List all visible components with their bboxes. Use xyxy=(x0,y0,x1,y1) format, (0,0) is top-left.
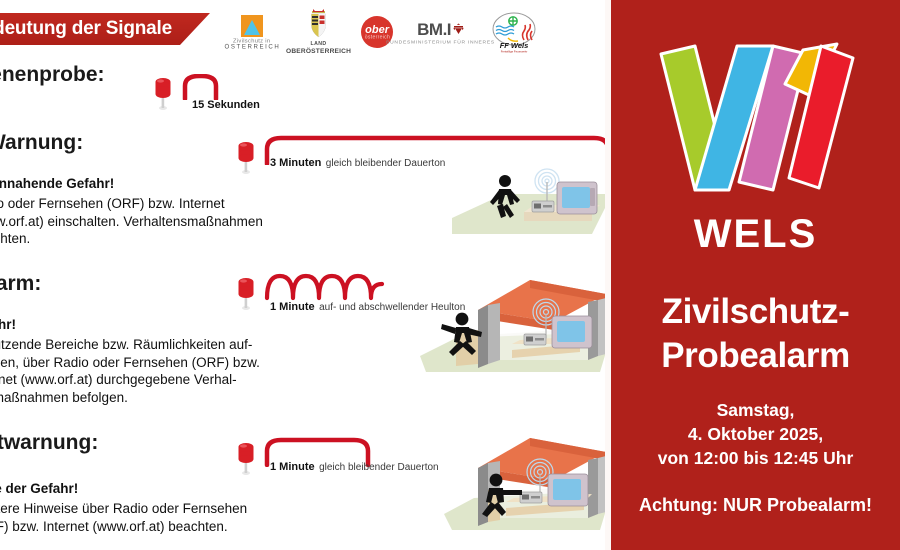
event-date-line3: von 12:00 bis 12:45 Uhr xyxy=(611,446,900,470)
alarm-heading: fahr! xyxy=(0,317,16,332)
event-panel: WELS Zivilschutz- Probealarm Samstag, 4.… xyxy=(611,0,900,550)
signal-duration-2: 3 Minuten xyxy=(270,157,321,169)
zivilschutz-triangle-icon xyxy=(244,20,260,35)
entwarnung-body-line-1: eitere Hinweise über Radio oder Fernsehe… xyxy=(0,500,247,518)
alarm-body: hützende Bereiche bzw. Räumlichkeiten au… xyxy=(0,336,260,406)
warning-body: dio oder Fernsehen (ORF) bzw. Internet w… xyxy=(0,195,263,248)
event-notice: Achtung: NUR Probealarm! xyxy=(611,495,900,516)
city-name: WELS xyxy=(611,212,900,257)
wels-w-logo xyxy=(651,36,861,196)
signal-duration-4: 1 Minute xyxy=(270,461,315,473)
alarm-body-line-4: smaßnahmen befolgen. xyxy=(0,389,260,407)
signal-desc-4: gleich bleibender Dauerton xyxy=(319,462,439,473)
signal-label-1: 15 Sekunden xyxy=(192,95,260,113)
signal-desc-2: gleich bleibender Dauerton xyxy=(326,158,446,169)
signal-label-4: 1 Minute gleich bleibender Dauerton xyxy=(270,457,439,475)
section-title-entwarnung: ntwarnung: xyxy=(0,431,98,455)
entwarnung-body: eitere Hinweise über Radio oder Fernsehe… xyxy=(0,500,247,535)
svg-text:Freiwillige Feuerwehr: Freiwillige Feuerwehr xyxy=(501,50,528,54)
warning-body-line-2: ww.orf.at) einschalten. Verhaltensmaßnah… xyxy=(0,213,263,231)
warning-heading: rannahende Gefahr! xyxy=(0,176,114,191)
event-date-line2: 4. Oktober 2025, xyxy=(611,422,900,446)
bmi-icon: BM.I BUNDESMINISTERIUM FÜR INNERES xyxy=(403,21,478,44)
event-title-line1: Zivilschutz- xyxy=(611,290,900,334)
ooe-crest-icon xyxy=(310,8,327,38)
event-datetime: Samstag, 4. Oktober 2025, von 12:00 bis … xyxy=(611,398,900,470)
bmi-label: BM.I xyxy=(417,21,451,38)
entwarnung-body-line-2: RF) bzw. Internet (www.orf.at) beachten. xyxy=(0,518,247,536)
signal-label-2: 3 Minuten gleich bleibender Dauerton xyxy=(270,153,445,171)
signal-duration-1: 15 Sekunden xyxy=(192,99,260,111)
entwarnung-heading: de der Gefahr! xyxy=(0,481,78,496)
section-title-sirenenprobe: renenprobe: xyxy=(0,63,105,87)
bmi-subtitle: BUNDESMINISTERIUM FÜR INNERES xyxy=(386,39,495,45)
event-date-line1: Samstag, xyxy=(611,398,900,422)
land-oberoesterreich-icon: LAND OBERÖSTERREICH xyxy=(286,8,351,56)
ff-wels-icon: FF Wels Freiwillige Feuerwehr xyxy=(488,10,540,54)
siren-icon-1 xyxy=(150,72,176,112)
alarm-body-line-1: hützende Bereiche bzw. Räumlichkeiten au… xyxy=(0,336,260,354)
warning-body-line-3: achten. xyxy=(0,230,263,248)
partner-logos-row: Zivilschutz in ÖSTERREICH LAND OBERÖSTER… xyxy=(228,6,540,58)
section-title-warnung: Warnung: xyxy=(0,131,83,155)
zivilschutz-label-line2: ÖSTERREICH xyxy=(224,44,280,50)
signal-duration-3: 1 Minute xyxy=(270,301,315,313)
alarm-body-line-3: ernet (www.orf.at) durchgegebene Verhal- xyxy=(0,371,260,389)
zivilschutz-oesterreich-icon: Zivilschutz in ÖSTERREICH xyxy=(228,15,276,49)
scene-person-running-into-house xyxy=(420,272,611,382)
flyer-left-region: edeutung der Signale Zivilschutz in ÖSTE… xyxy=(0,0,611,550)
ooe-label-line2: OBERÖSTERREICH xyxy=(286,48,351,56)
alarm-body-line-2: chen, über Radio oder Fernsehen (ORF) bz… xyxy=(0,354,260,372)
ff-wels-emblem-icon: FF Wels Freiwillige Feuerwehr xyxy=(488,10,540,54)
event-title-line2: Probealarm xyxy=(611,334,900,378)
poster-root: edeutung der Signale Zivilschutz in ÖSTE… xyxy=(0,0,900,550)
scene-person-outdoors-radio-tv xyxy=(452,158,611,243)
siren-icon-3 xyxy=(233,272,259,312)
section-title-alarm: larm: xyxy=(0,272,41,296)
zivilschutz-square-icon xyxy=(241,15,263,37)
austria-eagle-icon xyxy=(453,23,464,35)
scene-person-in-house-radio-tv xyxy=(444,428,611,540)
banner-title: edeutung der Signale xyxy=(0,14,210,44)
siren-icon-4 xyxy=(233,437,259,477)
siren-icon-2 xyxy=(233,136,259,176)
warning-body-line-1: dio oder Fernsehen (ORF) bzw. Internet xyxy=(0,195,263,213)
event-title: Zivilschutz- Probealarm xyxy=(611,290,900,378)
